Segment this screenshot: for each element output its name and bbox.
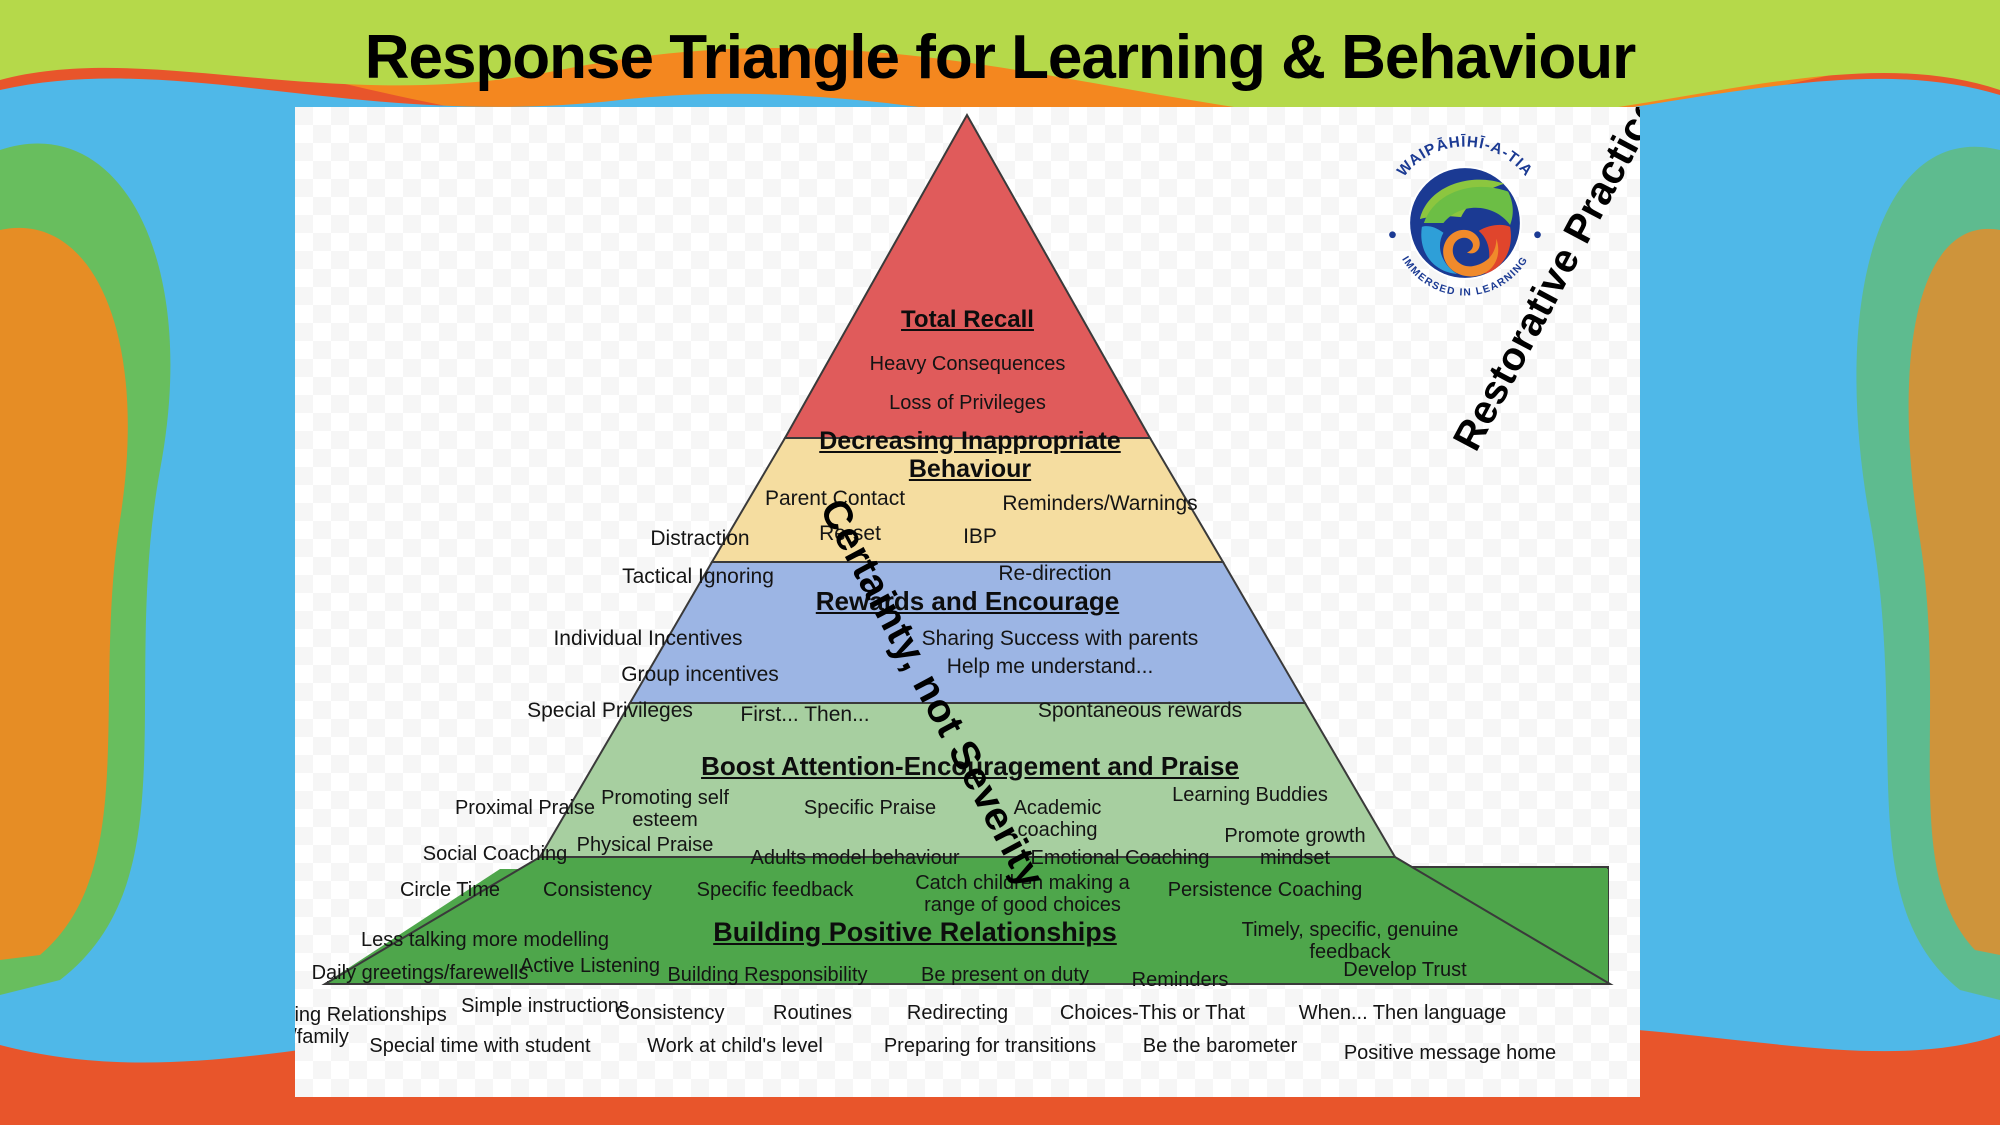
tier5-item-less-talking-more-modelling: Less talking more modelling [340,929,630,951]
tier-building-positive-relationships-label: Building Positive Relationships [595,917,1235,947]
tier1-item-heavy-consequences: Heavy Consequences [815,353,1120,375]
tier2-item-ibp: IBP [915,525,1045,549]
tier-decreasing-behaviour-label: Decreasing Inappropriate Behaviour [725,427,1215,483]
tier3-item-special-privileges: Special Privileges [495,699,725,723]
tier5-item-reminders: Reminders [1090,969,1270,991]
tier4-item-learning-buddies: Learning Buddies [1135,784,1365,806]
tier2-item-tactical-ignoring: Tactical Ignoring [583,565,813,589]
tier5-item-choices-this-or-that: Choices-This or That [1030,1002,1275,1024]
tier-rewards-label: Rewards and Encourage [695,587,1240,616]
tier5-item-be-the-barometer: Be the barometer [1105,1035,1335,1057]
tier3-item-spontaneous-rewards: Spontaneous rewards [995,699,1285,723]
tier3-item-help-me-understand: Help me understand... [905,655,1195,679]
tier5-item-be-present-on-duty: Be present on duty [890,964,1120,986]
page-title: Response Triangle for Learning & Behavio… [0,22,2000,93]
tier5-item-routines: Routines [735,1002,890,1024]
tier2-item-re-direction: Re-direction [945,562,1165,586]
tier3-item-individual-incentives: Individual Incentives [523,627,773,651]
waipahihi-a-tia-logo: WAIPĀHĪHĪ-A-TIA IMMERSED IN LEARNING [1367,125,1563,321]
tier5-item-building-responsibility: Building Responsibility [635,964,900,986]
tier5-item-work-at-childs-level: Work at child's level [610,1035,860,1057]
tier2-item-distraction: Distraction [605,527,795,551]
tier1-item-loss-of-privileges: Loss of Privileges [825,392,1110,414]
tier3-item-first-then: First... Then... [700,703,910,727]
tier5-item-positive-message-home: Positive message home [1320,1042,1580,1064]
tier4-item-promote-growth-mindset: Promote growth mindset [1195,825,1395,870]
slide-content-canvas: Total Recall Heavy Consequences Loss of … [295,107,1640,1097]
logo-dot-left [1389,231,1396,238]
tier4-item-consistency: Consistency [515,879,680,901]
tier5-item-develop-trust: Develop Trust [1305,959,1505,981]
tier2-item-reminders-warnings: Reminders/Warnings [955,492,1245,516]
tier5-item-redirecting: Redirecting [870,1002,1045,1024]
tier3-item-group-incentives: Group incentives [585,663,815,687]
tier5-item-when-then-language: When... Then language [1270,1002,1535,1024]
tier4-item-specific-feedback: Specific feedback [670,879,880,901]
tier5-item-special-time-with-student: Special time with student [345,1035,615,1057]
logo-dot-right [1534,231,1541,238]
tier5-item-preparing-for-transitions: Preparing for transitions [850,1035,1130,1057]
tier4-item-adults-model-behaviour: Adults model behaviour [710,847,1000,869]
tier4-item-specific-praise: Specific Praise [765,797,975,819]
tier3-item-sharing-success-with-parents: Sharing Success with parents [895,627,1225,651]
tier4-item-persistence-coaching: Persistence Coaching [1135,879,1395,901]
tier-total-recall-band [785,115,1150,438]
tier4-item-promoting-self-esteem: Promoting self esteem [570,787,760,832]
tier4-item-circle-time: Circle Time [370,879,530,901]
tier-total-recall-label: Total Recall [855,307,1080,334]
tier5-item-timely-specific-genuine-feedback: Timely, specific, genuine feedback [1235,919,1465,964]
